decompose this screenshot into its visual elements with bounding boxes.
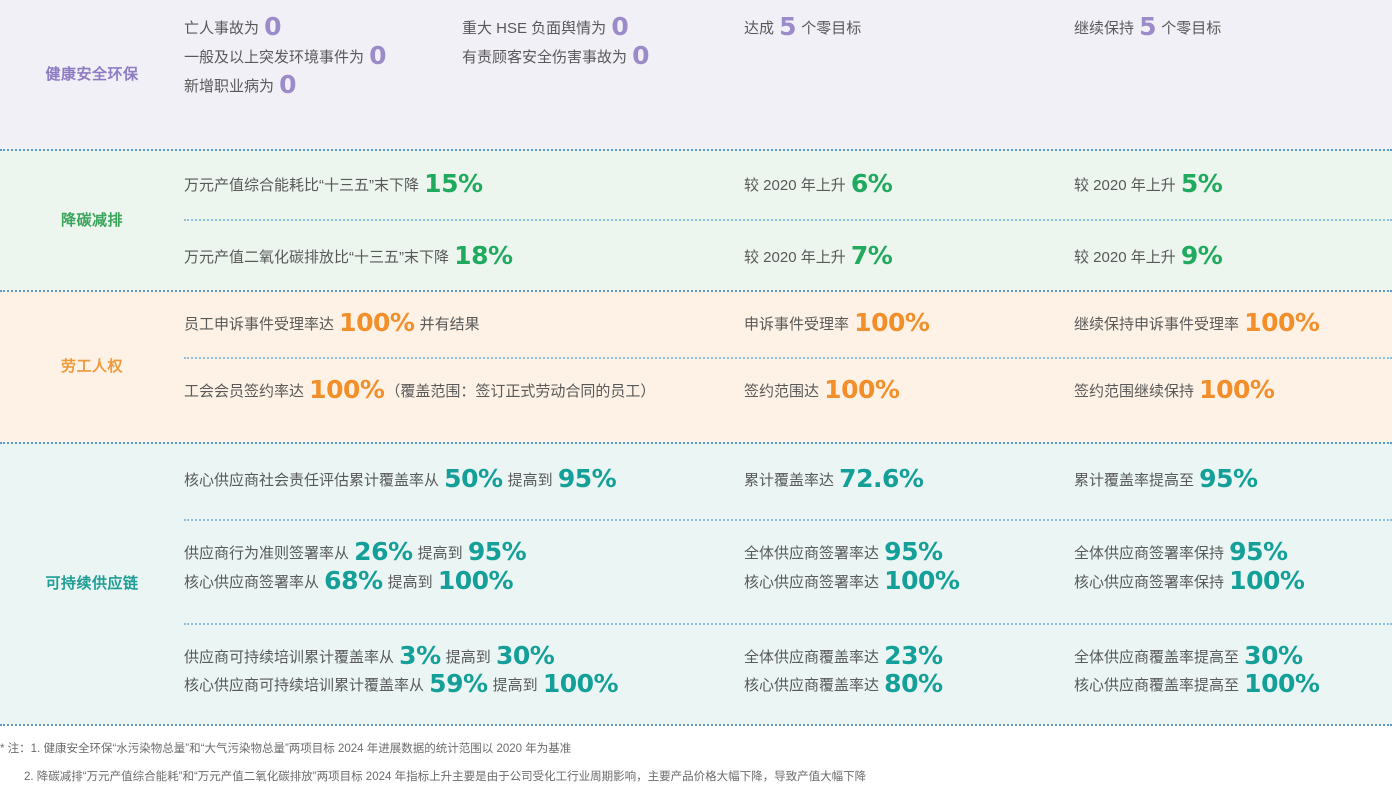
hse-text: 亡人事故为 [184,20,263,37]
metric-line: 全体供应商覆盖率提高至 30% [1074,643,1374,672]
metric-number-2: 95% [557,464,617,493]
metric-line: 核心供应商签署率保持 100% [1074,568,1374,597]
hse-cell-target: 亡人事故为 0 重大 HSE 负面舆情为 0 一般及以上突发环境事件为 0 [184,0,744,149]
metric-text: 核心供应商可持续培训累计覆盖率从 [184,677,428,694]
section-label-carbon: 降碳减排 [0,151,184,290]
section-label-supply: 可持续供应链 [0,444,184,724]
metric-text: 全体供应商签署率达 [744,545,883,562]
table-row: 万元产值二氧化碳排放比“十三五”末下降 18% 较 2020 年上升 7% 较 … [184,219,1392,290]
metric-number-2: 30% [495,641,555,670]
metric-number: 59% [428,669,488,698]
metric-number: 100% [853,308,930,337]
hse-item: 一般及以上突发环境事件为 0 [184,43,462,72]
hse-text: 个零目标 [1157,20,1221,37]
hse-text: 重大 HSE 负面舆情为 [462,20,610,37]
table-row: 万元产值综合能耗比“十三五”末下降 15% 较 2020 年上升 6% 较 20… [184,151,1392,219]
metric-line: 累计覆盖率提高至 95% [1074,466,1374,495]
section-label-labor-text: 劳工人权 [61,357,123,377]
supply-cell-target: 核心供应商社会责任评估累计覆盖率从 50% 提高到 95% [184,444,744,519]
metric-text: 较 2020 年上升 [1074,177,1180,194]
metric-line: 较 2020 年上升 7% [744,243,1056,272]
hse-item: 亡人事故为 0 [184,14,462,43]
hse-grid: 亡人事故为 0 重大 HSE 负面舆情为 0 一般及以上突发环境事件为 0 [184,14,726,100]
metric-number-2: 100% [542,669,619,698]
hse-text: 继续保持 [1074,20,1138,37]
metric-number: 95% [1198,464,1258,493]
metric-number: 30% [1243,641,1303,670]
labor-cell-target: 工会会员签约率达 100%（覆盖范围：签订正式劳动合同的员工） [184,359,744,442]
metric-text: 供应商行为准则签署率从 [184,545,353,562]
metric-line: 核心供应商可持续培训累计覆盖率从 59% 提高到 100% [184,671,726,700]
metric-text: 申诉事件受理率 [744,316,853,333]
metric-text: 供应商可持续培训累计覆盖率从 [184,649,398,666]
section-carbon: 降碳减排 万元产值综合能耗比“十三五”末下降 15% 较 2020 年上升 6%… [0,149,1392,290]
metric-line: 核心供应商签署率达 100% [744,568,1056,597]
section-label-carbon-text: 降碳减排 [61,211,123,231]
metric-line: 万元产值综合能耗比“十三五”末下降 15% [184,171,726,200]
metric-number: 50% [443,464,503,493]
metric-line: 全体供应商签署率保持 95% [1074,539,1374,568]
metric-number: 100% [1228,566,1305,595]
metric-number: 100% [338,308,415,337]
metric-text: 核心供应商覆盖率达 [744,677,883,694]
metric-text: 较 2020 年上升 [744,249,850,266]
metric-line: 较 2020 年上升 9% [1074,243,1374,272]
hse-plan-line: 继续保持 5 个零目标 [1074,14,1374,43]
metric-number: 23% [883,641,943,670]
metric-text: 核心供应商签署率从 [184,574,323,591]
metric-line: 工会会员签约率达 100%（覆盖范围：签订正式劳动合同的员工） [184,377,726,406]
metric-text: 并有结果 [415,316,479,333]
section-label-labor: 劳工人权 [0,292,184,442]
supply-cell-target: 供应商可持续培训累计覆盖率从 3% 提高到 30% 核心供应商可持续培训累计覆盖… [184,625,744,724]
metric-line: 全体供应商覆盖率达 23% [744,643,1056,672]
section-hse: 健康安全环保 亡人事故为 0 重大 HSE 负面舆情为 0 [0,0,1392,149]
metric-text: 员工申诉事件受理率达 [184,316,338,333]
hse-progress-line: 达成 5 个零目标 [744,14,1056,43]
hse-text: 达成 [744,20,778,37]
metric-line: 签约范围继续保持 100% [1074,377,1374,406]
carbon-cell-plan: 较 2020 年上升 9% [1074,221,1392,290]
hse-number: 0 [610,12,629,41]
hse-text: 个零目标 [797,20,861,37]
metric-text: 累计覆盖率达 [744,472,838,489]
metric-text: 签约范围继续保持 [1074,383,1198,400]
metric-text: 提高到 [489,677,542,694]
esg-goals-table: 健康安全环保 亡人事故为 0 重大 HSE 负面舆情为 0 [0,0,1392,809]
metric-line: 较 2020 年上升 5% [1074,171,1374,200]
hse-rows: 亡人事故为 0 重大 HSE 负面舆情为 0 一般及以上突发环境事件为 0 [184,0,1392,149]
table-row: 亡人事故为 0 重大 HSE 负面舆情为 0 一般及以上突发环境事件为 0 [184,0,1392,149]
hse-item: 有责顾客安全伤害事故为 0 [462,43,726,72]
metric-number: 100% [823,375,900,404]
metric-line: 较 2020 年上升 6% [744,171,1056,200]
metric-text: 签约范围达 [744,383,823,400]
metric-number-2: 100% [437,566,514,595]
hse-line: 一般及以上突发环境事件为 0 有责顾客安全伤害事故为 0 [184,43,726,72]
labor-cell-target: 员工申诉事件受理率达 100% 并有结果 [184,292,744,357]
metric-number: 7% [850,241,893,270]
labor-cell-progress: 申诉事件受理率 100% [744,292,1074,357]
carbon-cell-plan: 较 2020 年上升 5% [1074,151,1392,219]
metric-text: 核心供应商签署率保持 [1074,574,1228,591]
table-row: 员工申诉事件受理率达 100% 并有结果 申诉事件受理率 100% 继续保持申诉… [184,292,1392,357]
metric-number: 6% [850,169,893,198]
section-label-hse-text: 健康安全环保 [45,65,138,85]
metric-number: 80% [883,669,943,698]
hse-number: 5 [1138,12,1157,41]
carbon-rows: 万元产值综合能耗比“十三五”末下降 15% 较 2020 年上升 6% 较 20… [184,151,1392,290]
metric-text: 全体供应商覆盖率达 [744,649,883,666]
metric-line: 签约范围达 100% [744,377,1056,406]
metric-line: 申诉事件受理率 100% [744,310,1056,339]
labor-rows: 员工申诉事件受理率达 100% 并有结果 申诉事件受理率 100% 继续保持申诉… [184,292,1392,442]
metric-line: 全体供应商签署率达 95% [744,539,1056,568]
hse-number: 0 [631,41,650,70]
metric-line: 供应商可持续培训累计覆盖率从 3% 提高到 30% [184,643,726,672]
hse-number: 0 [368,41,387,70]
supply-cell-progress: 累计覆盖率达 72.6% [744,444,1074,519]
carbon-cell-progress: 较 2020 年上升 6% [744,151,1074,219]
metric-number: 15% [423,169,483,198]
metric-text: （覆盖范围：签订正式劳动合同的员工） [385,383,655,400]
hse-number: 0 [263,12,282,41]
table-row: 核心供应商社会责任评估累计覆盖率从 50% 提高到 95% 累计覆盖率达 72.… [184,444,1392,519]
metric-number: 18% [453,241,513,270]
hse-item [462,72,726,101]
metric-text: 核心供应商覆盖率提高至 [1074,677,1243,694]
metric-number: 26% [353,537,413,566]
metric-line: 继续保持申诉事件受理率 100% [1074,310,1374,339]
metric-text: 提高到 [384,574,437,591]
supply-cell-progress: 全体供应商覆盖率达 23% 核心供应商覆盖率达 80% [744,625,1074,724]
hse-cell-progress: 达成 5 个零目标 [744,0,1074,149]
supply-cell-plan: 累计覆盖率提高至 95% [1074,444,1392,519]
metric-text: 较 2020 年上升 [744,177,850,194]
metric-number: 5% [1180,169,1223,198]
hse-line: 新增职业病为 0 [184,72,726,101]
metric-number: 68% [323,566,383,595]
carbon-cell-target: 万元产值二氧化碳排放比“十三五”末下降 18% [184,221,744,290]
supply-rows: 核心供应商社会责任评估累计覆盖率从 50% 提高到 95% 累计覆盖率达 72.… [184,444,1392,724]
metric-text: 提高到 [414,545,467,562]
metric-line: 员工申诉事件受理率达 100% 并有结果 [184,310,726,339]
metric-number-2: 95% [467,537,527,566]
footnote-1: * 注：1. 健康安全环保“水污染物总量”和“大气污染物总量”两项目标 2024… [0,740,1392,758]
metric-number: 3% [398,641,441,670]
labor-cell-progress: 签约范围达 100% [744,359,1074,442]
table-row: 工会会员签约率达 100%（覆盖范围：签订正式劳动合同的员工） 签约范围达 10… [184,357,1392,442]
hse-item: 重大 HSE 负面舆情为 0 [462,14,726,43]
hse-text: 有责顾客安全伤害事故为 [462,49,631,66]
table-row: 供应商行为准则签署率从 26% 提高到 95% 核心供应商签署率从 68% 提高… [184,519,1392,622]
metric-number: 95% [883,537,943,566]
carbon-cell-target: 万元产值综合能耗比“十三五”末下降 15% [184,151,744,219]
metric-text: 全体供应商签署率保持 [1074,545,1228,562]
metric-text: 较 2020 年上升 [1074,249,1180,266]
metric-number: 100% [1243,308,1320,337]
hse-cell-plan: 继续保持 5 个零目标 [1074,0,1392,149]
hse-text: 一般及以上突发环境事件为 [184,49,368,66]
hse-number: 0 [278,70,297,99]
metric-number: 100% [1198,375,1275,404]
metric-number: 9% [1180,241,1223,270]
metric-line: 核心供应商签署率从 68% 提高到 100% [184,568,726,597]
metric-number: 100% [308,375,385,404]
hse-text: 新增职业病为 [184,78,278,95]
hse-item: 新增职业病为 0 [184,72,462,101]
metric-number: 72.6% [838,464,924,493]
labor-cell-plan: 继续保持申诉事件受理率 100% [1074,292,1392,357]
table-row: 供应商可持续培训累计覆盖率从 3% 提高到 30% 核心供应商可持续培训累计覆盖… [184,623,1392,724]
metric-line: 核心供应商覆盖率提高至 100% [1074,671,1374,700]
supply-cell-target: 供应商行为准则签署率从 26% 提高到 95% 核心供应商签署率从 68% 提高… [184,521,744,622]
metric-text: 万元产值综合能耗比“十三五”末下降 [184,177,423,194]
metric-number: 100% [883,566,960,595]
hse-number: 5 [778,12,797,41]
metric-line: 累计覆盖率达 72.6% [744,466,1056,495]
metric-text: 累计覆盖率提高至 [1074,472,1198,489]
metric-text: 全体供应商覆盖率提高至 [1074,649,1243,666]
metric-text: 核心供应商签署率达 [744,574,883,591]
section-supply: 可持续供应链 核心供应商社会责任评估累计覆盖率从 50% 提高到 95% 累计覆… [0,442,1392,724]
section-label-supply-text: 可持续供应链 [45,574,138,594]
footnotes: * 注：1. 健康安全环保“水污染物总量”和“大气污染物总量”两项目标 2024… [0,724,1392,787]
metric-text: 提高到 [504,472,557,489]
section-labor: 劳工人权 员工申诉事件受理率达 100% 并有结果 申诉事件受理率 100% 继… [0,290,1392,442]
hse-line: 亡人事故为 0 重大 HSE 负面舆情为 0 [184,14,726,43]
metric-line: 万元产值二氧化碳排放比“十三五”末下降 18% [184,243,726,272]
metric-number: 95% [1228,537,1288,566]
metric-text: 核心供应商社会责任评估累计覆盖率从 [184,472,443,489]
supply-cell-progress: 全体供应商签署率达 95% 核心供应商签署率达 100% [744,521,1074,622]
supply-cell-plan: 全体供应商覆盖率提高至 30% 核心供应商覆盖率提高至 100% [1074,625,1392,724]
metric-line: 核心供应商社会责任评估累计覆盖率从 50% 提高到 95% [184,466,726,495]
metric-text: 提高到 [442,649,495,666]
section-label-hse: 健康安全环保 [0,0,184,149]
metric-line: 供应商行为准则签署率从 26% 提高到 95% [184,539,726,568]
metric-number: 100% [1243,669,1320,698]
metric-line: 核心供应商覆盖率达 80% [744,671,1056,700]
metric-text: 工会会员签约率达 [184,383,308,400]
metric-text: 万元产值二氧化碳排放比“十三五”末下降 [184,249,453,266]
supply-cell-plan: 全体供应商签署率保持 95% 核心供应商签署率保持 100% [1074,521,1392,622]
carbon-cell-progress: 较 2020 年上升 7% [744,221,1074,290]
footnote-2: 2. 降碳减排“万元产值综合能耗”和“万元产值二氧化碳排放”两项目标 2024 … [0,758,1392,786]
labor-cell-plan: 签约范围继续保持 100% [1074,359,1392,442]
metric-text: 继续保持申诉事件受理率 [1074,316,1243,333]
